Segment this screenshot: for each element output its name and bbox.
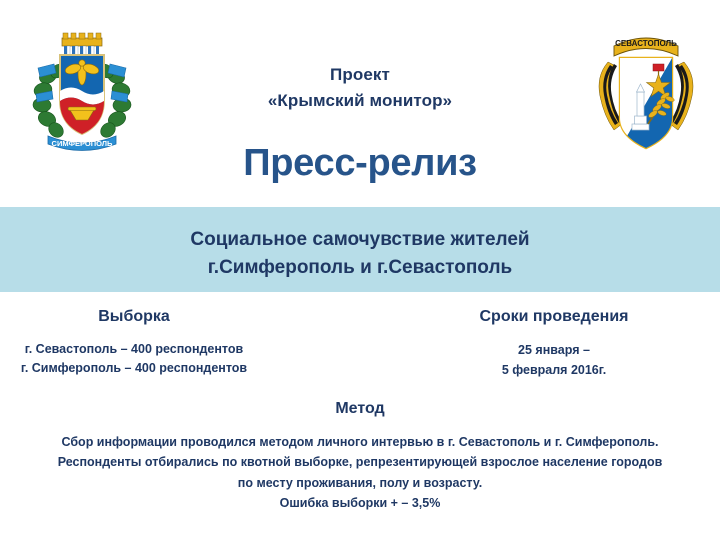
method-line-1: Сбор информации проводился методом лично… <box>34 432 686 452</box>
sample-body: г. Севастополь – 400 респондентов г. Сим… <box>18 340 250 378</box>
subtitle-line-1: Социальное самочувствие жителей <box>0 226 720 254</box>
sample-section: Выборка г. Севастополь – 400 респонденто… <box>18 308 250 378</box>
sample-line-1: г. Севастополь – 400 респондентов <box>18 340 250 359</box>
sample-heading: Выборка <box>18 308 250 326</box>
method-heading: Метод <box>0 400 720 418</box>
mural-crown-icon <box>62 33 102 55</box>
subtitle-banner: Социальное самочувствие жителей г.Симфер… <box>0 207 720 292</box>
subtitle-line-2: г.Симферополь и г.Севастополь <box>0 254 720 282</box>
sample-line-2: г. Симферополь – 400 респондентов <box>18 359 250 378</box>
method-section: Метод Сбор информации проводился методом… <box>0 400 720 513</box>
project-title: Проект «Крымский монитор» <box>0 62 720 115</box>
method-line-2: Респонденты отбирались по квотной выборк… <box>34 452 686 472</box>
method-body: Сбор информации проводился методом лично… <box>0 432 720 513</box>
dates-line-1: 25 января – <box>418 340 690 360</box>
crest-banner: СЕВАСТОПОЛЬ <box>614 38 678 56</box>
dates-heading: Сроки проведения <box>418 308 690 326</box>
subtitle-text: Социальное самочувствие жителей г.Симфер… <box>0 226 720 281</box>
dates-body: 25 января – 5 февраля 2016г. <box>418 340 690 380</box>
dates-line-2: 5 февраля 2016г. <box>418 360 690 380</box>
dates-section: Сроки проведения 25 января – 5 февраля 2… <box>418 308 690 380</box>
sevastopol-banner-text: СЕВАСТОПОЛЬ <box>615 39 677 48</box>
project-line-1: Проект <box>0 62 720 88</box>
method-line-4: Ошибка выборки + – 3,5% <box>34 493 686 513</box>
project-line-2: «Крымский монитор» <box>0 88 720 114</box>
page-title: Пресс-релиз <box>0 142 720 185</box>
press-release-slide: СИМФЕРОПОЛЬ СЕВАСТ <box>0 0 720 540</box>
method-line-3: по месту проживания, полу и возрасту. <box>34 473 686 493</box>
